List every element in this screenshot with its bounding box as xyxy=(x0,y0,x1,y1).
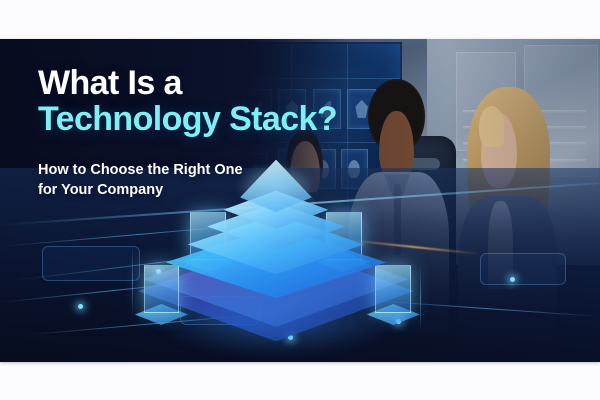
subheadline-line-1: How to Choose the Right One xyxy=(38,162,243,178)
subheadline: How to Choose the Right One for Your Com… xyxy=(38,160,358,201)
satellite-cube-1 xyxy=(144,265,180,313)
headline-line-2: Technology Stack? xyxy=(38,101,358,137)
circuit-node-4 xyxy=(510,277,515,282)
circuit-pad-3 xyxy=(480,253,566,284)
hero-banner: What Is a Technology Stack? How to Choos… xyxy=(0,39,600,362)
hero-copy-block: What Is a Technology Stack? How to Choos… xyxy=(38,65,358,201)
circuit-node-5 xyxy=(78,304,83,309)
page-root: What Is a Technology Stack? How to Choos… xyxy=(0,0,600,400)
subheadline-line-2: for Your Company xyxy=(38,180,358,201)
satellite-cube-4 xyxy=(375,265,411,313)
headline-line-1: What Is a xyxy=(38,65,358,101)
